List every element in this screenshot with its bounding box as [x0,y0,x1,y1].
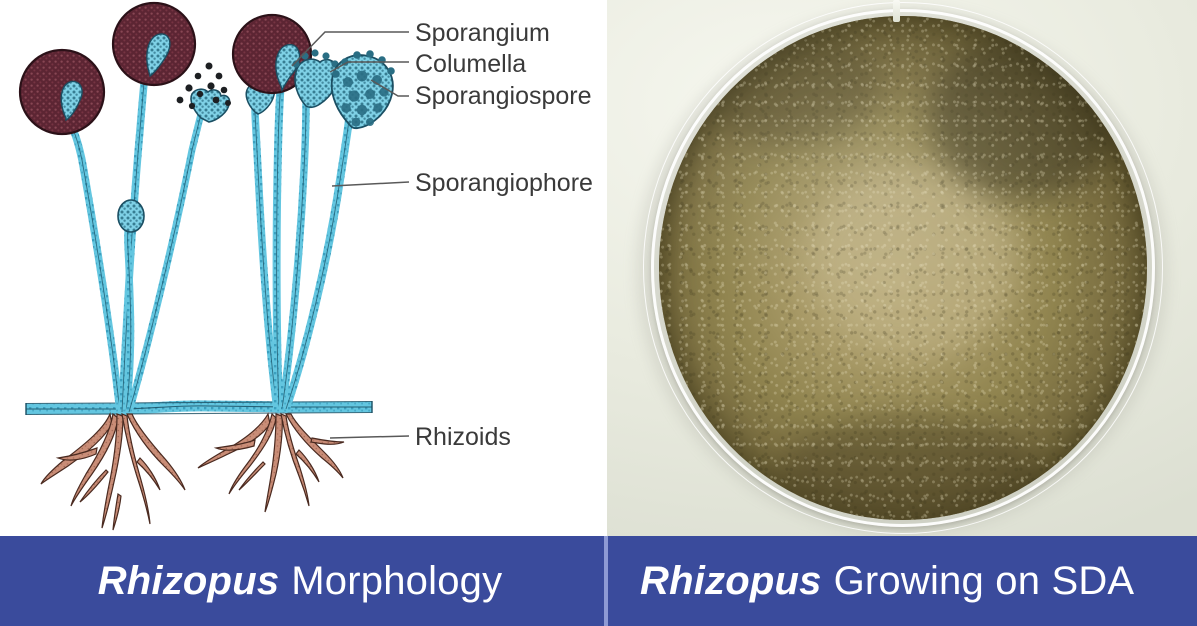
label-sporangiophore: Sporangiophore [415,169,593,197]
caption-left-text: Morphology [291,559,502,604]
rhizoids-left [41,414,185,530]
diagram-labels: Sporangium Columella Sporangiospore Spor… [415,19,593,451]
sporangium-mature-2 [113,3,195,85]
panel-divider-gap [597,0,607,536]
caption-morphology: Rhizopus Morphology [0,536,600,626]
colony-specular-sheen [659,16,1147,520]
rhizopus-colony [659,16,1147,520]
sporangium-young-bud [118,200,144,232]
panel-culture-photograph [607,0,1197,536]
figure-root: Sporangium Columella Sporangiospore Spor… [0,0,1197,626]
label-rhizoids: Rhizoids [415,423,511,451]
sporangium-mature-1 [20,50,104,134]
stolon [26,401,372,415]
label-sporangiospore: Sporangiospore [415,82,592,110]
petri-dish-photo [607,0,1197,536]
caption-culture: Rhizopus Growing on SDA [600,536,1197,626]
label-sporangium: Sporangium [415,19,550,47]
label-columella: Columella [415,50,526,78]
caption-right-genus: Rhizopus [640,559,822,604]
cluster-left [20,3,231,530]
sporangiophore-right-group [255,84,349,409]
leader-rhizoids [330,436,409,438]
caption-left-genus: Rhizopus [98,559,280,604]
dish-lid-notch [893,0,900,22]
rhizopus-morphology-illustration: Sporangium Columella Sporangiospore Spor… [0,0,597,536]
panel-morphology-diagram: Sporangium Columella Sporangiospore Spor… [0,0,597,536]
caption-right-text: Growing on SDA [834,559,1135,604]
rhizoids-right [198,414,344,512]
